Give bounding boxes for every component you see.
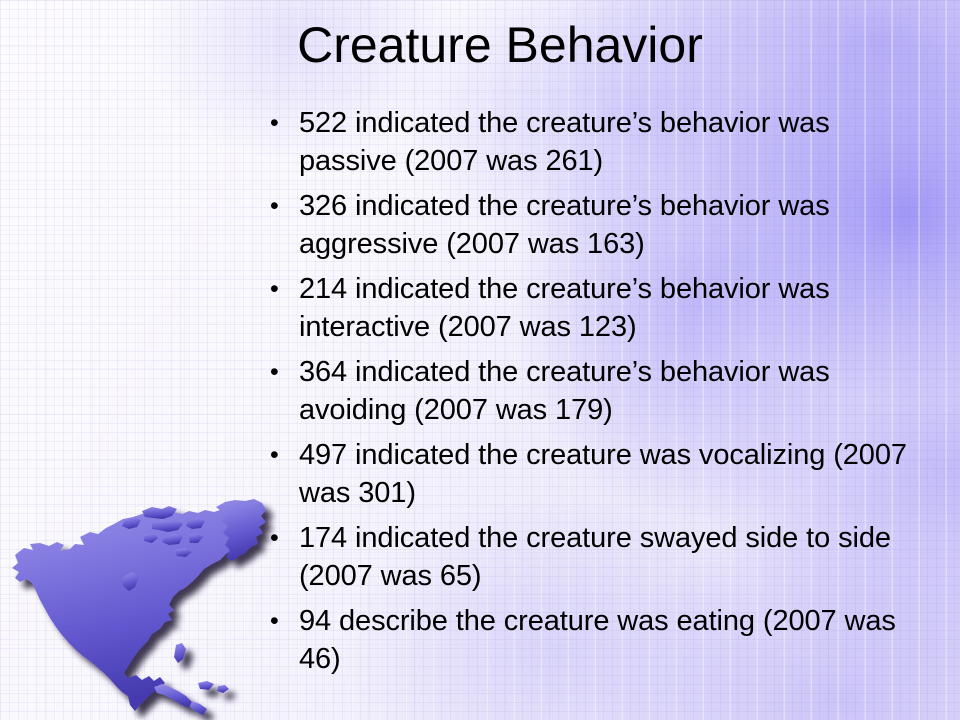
list-item: • 94 describe the creature was eating (2… — [268, 602, 928, 678]
list-item-label: 174 indicated the creature swayed side t… — [299, 519, 928, 595]
bullet-marker-icon: • — [268, 353, 299, 391]
list-item-label: 214 indicated the creature’s behavior wa… — [299, 270, 928, 346]
list-item-label: 94 describe the creature was eating (200… — [299, 602, 928, 678]
bullet-marker-icon: • — [268, 436, 299, 474]
list-item-label: 326 indicated the creature’s behavior wa… — [299, 187, 928, 263]
bullet-marker-icon: • — [268, 187, 299, 225]
slide-canvas: Creature Behavior • 522 indicated the cr… — [0, 0, 960, 720]
north-america-map-icon — [2, 487, 282, 720]
page-title: Creature Behavior — [60, 16, 940, 74]
list-item: • 364 indicated the creature’s behavior … — [268, 353, 928, 429]
list-item-label: 522 indicated the creature’s behavior wa… — [299, 104, 928, 180]
list-item: • 522 indicated the creature’s behavior … — [268, 104, 928, 180]
list-item: • 174 indicated the creature swayed side… — [268, 519, 928, 595]
list-item: • 497 indicated the creature was vocaliz… — [268, 436, 928, 512]
bullet-marker-icon: • — [268, 104, 299, 142]
list-item-label: 497 indicated the creature was vocalizin… — [299, 436, 928, 512]
list-item: • 326 indicated the creature’s behavior … — [268, 187, 928, 263]
bullet-list: • 522 indicated the creature’s behavior … — [268, 104, 928, 685]
list-item: • 214 indicated the creature’s behavior … — [268, 270, 928, 346]
bullet-marker-icon: • — [268, 270, 299, 308]
list-item-label: 364 indicated the creature’s behavior wa… — [299, 353, 928, 429]
